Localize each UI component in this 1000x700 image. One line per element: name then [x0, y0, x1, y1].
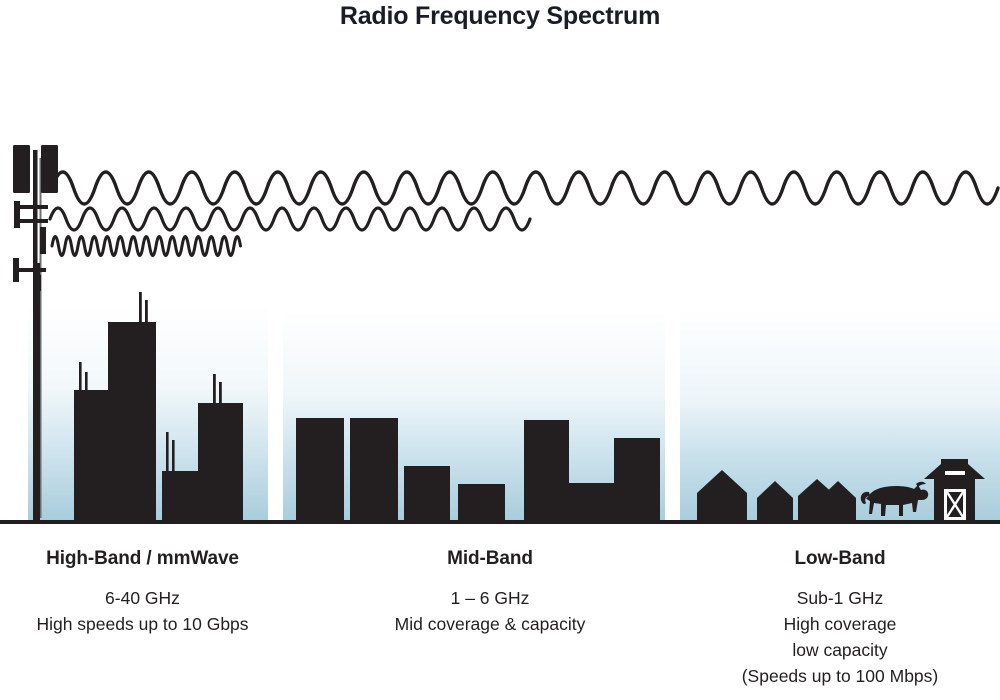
- building-mid-1: [296, 418, 344, 520]
- band-line: High speeds up to 10 Gbps: [0, 611, 285, 637]
- tower-panel-large-right: [41, 145, 58, 193]
- band-line: (Speeds up to 100 Mbps): [680, 663, 1000, 689]
- band-lines-high: 6-40 GHz High speeds up to 10 Gbps: [0, 585, 285, 637]
- band-heading-mid: Mid-Band: [330, 548, 650, 570]
- infographic-root: Radio Frequency Spectrum: [0, 0, 1000, 700]
- band-line: Sub-1 GHz: [680, 585, 1000, 611]
- band-heading-low: Low-Band: [680, 548, 1000, 570]
- tower-panel-small-3: [13, 258, 19, 282]
- building-mid-2: [350, 418, 398, 520]
- band-line: 6-40 GHz: [0, 585, 285, 611]
- band-lines-mid: 1 – 6 GHz Mid coverage & capacity: [330, 585, 650, 637]
- building-mid-3: [404, 466, 450, 520]
- band-lines-low: Sub-1 GHz High coverage low capacity (Sp…: [680, 585, 1000, 689]
- tower-panel-large-left: [13, 145, 30, 193]
- band-line: 1 – 6 GHz: [330, 585, 650, 611]
- building-mid-6: [569, 483, 614, 520]
- band-heading-high: High-Band / mmWave: [0, 548, 285, 570]
- tower-panel-small-2: [40, 227, 46, 254]
- building-high-3: [162, 471, 200, 520]
- wave-short-wavelength: [52, 237, 241, 256]
- building-mid-7: [614, 438, 660, 520]
- building-mid-5: [524, 420, 569, 520]
- caption-mid-band: Mid-Band 1 – 6 GHz Mid coverage & capaci…: [330, 548, 650, 637]
- building-high-1: [74, 390, 112, 520]
- building-high-2: [108, 322, 156, 520]
- wave-long-wavelength: [52, 172, 998, 204]
- building-high-4: [198, 403, 243, 520]
- band-line: Mid coverage & capacity: [330, 611, 650, 637]
- wave-medium-wavelength: [50, 208, 530, 230]
- caption-low-band: Low-Band Sub-1 GHz High coverage low cap…: [680, 548, 1000, 689]
- building-mid-4: [458, 484, 505, 520]
- radio-waves: [50, 172, 998, 256]
- tower-panel-small-1: [14, 201, 20, 228]
- caption-high-band: High-Band / mmWave 6-40 GHz High speeds …: [0, 548, 285, 637]
- band-line: low capacity: [680, 637, 1000, 663]
- band-line: High coverage: [680, 611, 1000, 637]
